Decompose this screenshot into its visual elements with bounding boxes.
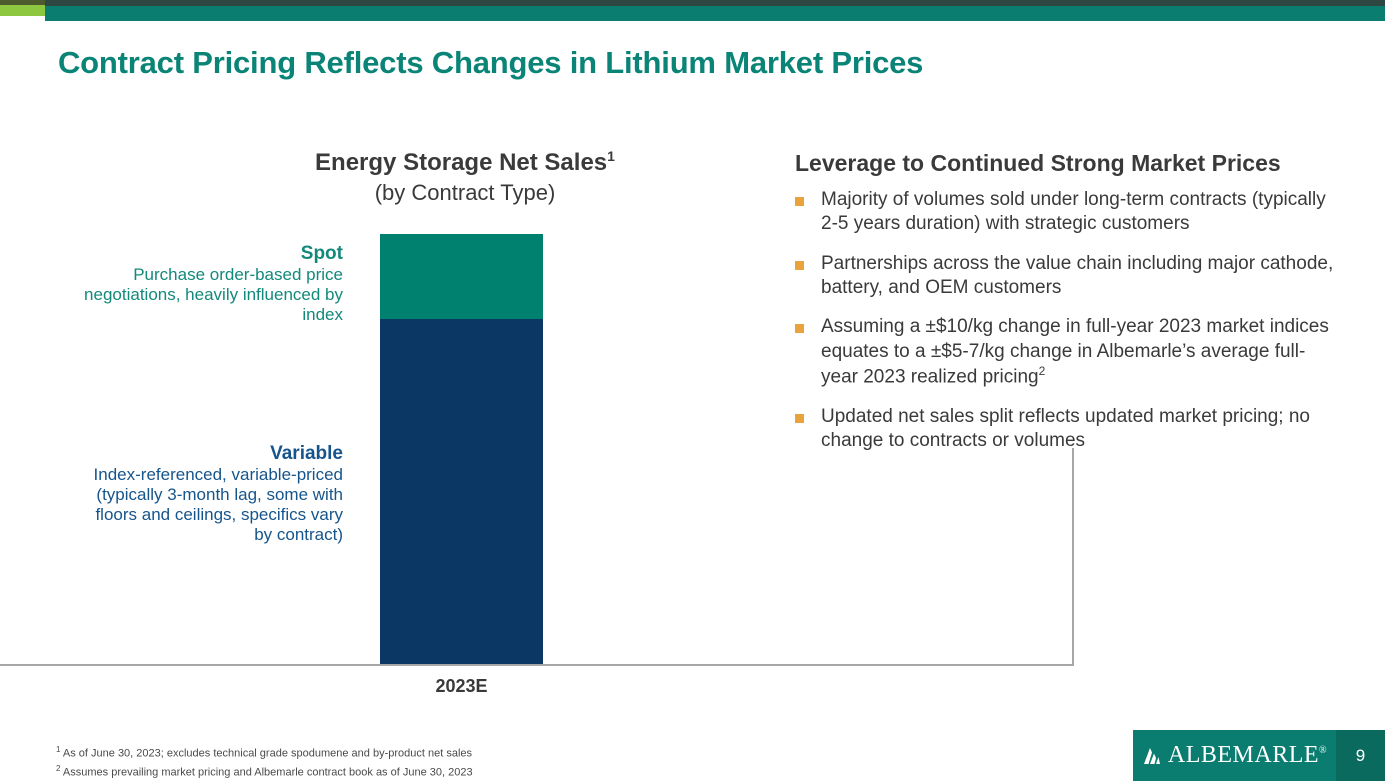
list-item-body: Assuming a ±$10/kg change in full-year 2…	[821, 316, 1329, 387]
footnote-1: 1 As of June 30, 2023; excludes technica…	[56, 744, 473, 763]
page-title: Contract Pricing Reflects Changes in Lit…	[58, 45, 923, 81]
right-panel-heading: Leverage to Continued Strong Market Pric…	[795, 150, 1281, 177]
bullet-square-icon	[795, 197, 804, 206]
bar-segment-variable[interactable]	[380, 319, 543, 664]
chart-title: Energy Storage Net Sales1	[170, 148, 760, 177]
albemarle-wordmark: ALBEMARLE	[1168, 742, 1319, 768]
list-item: Updated net sales split reflects updated…	[795, 405, 1335, 454]
albemarle-logo-text: ALBEMARLE®	[1168, 742, 1327, 769]
footnote-1-text: As of June 30, 2023; excludes technical …	[63, 748, 472, 760]
bullet-square-icon	[795, 324, 804, 333]
bullet-square-icon	[795, 414, 804, 423]
legend-description-variable: Index-referenced, variable-priced (typic…	[73, 465, 343, 545]
list-item-text: Assuming a ±$10/kg change in full-year 2…	[821, 315, 1335, 389]
slide-canvas: Contract Pricing Reflects Changes in Lit…	[0, 0, 1385, 781]
footnote-1-marker: 1	[56, 745, 60, 754]
list-item: Partnerships across the value chain incl…	[795, 252, 1335, 301]
list-item-footnote-marker: 2	[1039, 364, 1046, 378]
top-accent-bar-teal-shadow	[45, 0, 1385, 6]
list-item-text: Majority of volumes sold under long-term…	[821, 188, 1335, 237]
chart-title-text: Energy Storage Net Sales	[315, 149, 607, 176]
list-item-body: Partnerships across the value chain incl…	[821, 253, 1333, 298]
albemarle-mountain-icon	[1142, 746, 1162, 766]
footnote-2: 2 Assumes prevailing market pricing and …	[56, 763, 473, 781]
footnote-2-text: Assumes prevailing market pricing and Al…	[63, 766, 473, 778]
chart-right-border-line	[1072, 448, 1074, 666]
x-axis-category-label: 2023E	[380, 676, 543, 697]
list-item: Majority of volumes sold under long-term…	[795, 188, 1335, 237]
albemarle-logo-badge: ALBEMARLE®	[1133, 730, 1336, 781]
legend-heading-variable: Variable	[73, 443, 343, 465]
bar-segment-spot[interactable]	[380, 234, 543, 319]
chart-x-axis-line	[0, 664, 1074, 666]
right-panel-bullet-list: Majority of volumes sold under long-term…	[795, 188, 1335, 468]
footnote-2-marker: 2	[56, 764, 60, 773]
list-item-text: Partnerships across the value chain incl…	[821, 252, 1335, 301]
legend-entry-variable: Variable Index-referenced, variable-pric…	[73, 443, 343, 545]
list-item-body: Updated net sales split reflects updated…	[821, 406, 1310, 451]
list-item-text: Updated net sales split reflects updated…	[821, 405, 1335, 454]
chart-subtitle: (by Contract Type)	[170, 180, 760, 206]
list-item-body: Majority of volumes sold under long-term…	[821, 189, 1326, 234]
top-accent-bar-green-shadow	[0, 0, 45, 5]
page-number-badge: 9	[1336, 730, 1385, 781]
legend-entry-spot: Spot Purchase order-based price negotiat…	[73, 243, 343, 325]
list-item: Assuming a ±$10/kg change in full-year 2…	[795, 315, 1335, 389]
legend-heading-spot: Spot	[73, 243, 343, 265]
footnotes: 1 As of June 30, 2023; excludes technica…	[56, 744, 473, 781]
bullet-square-icon	[795, 261, 804, 270]
chart-title-footnote-marker: 1	[607, 148, 615, 164]
legend-description-spot: Purchase order-based price negotiations,…	[73, 265, 343, 325]
trademark-icon: ®	[1319, 745, 1327, 756]
